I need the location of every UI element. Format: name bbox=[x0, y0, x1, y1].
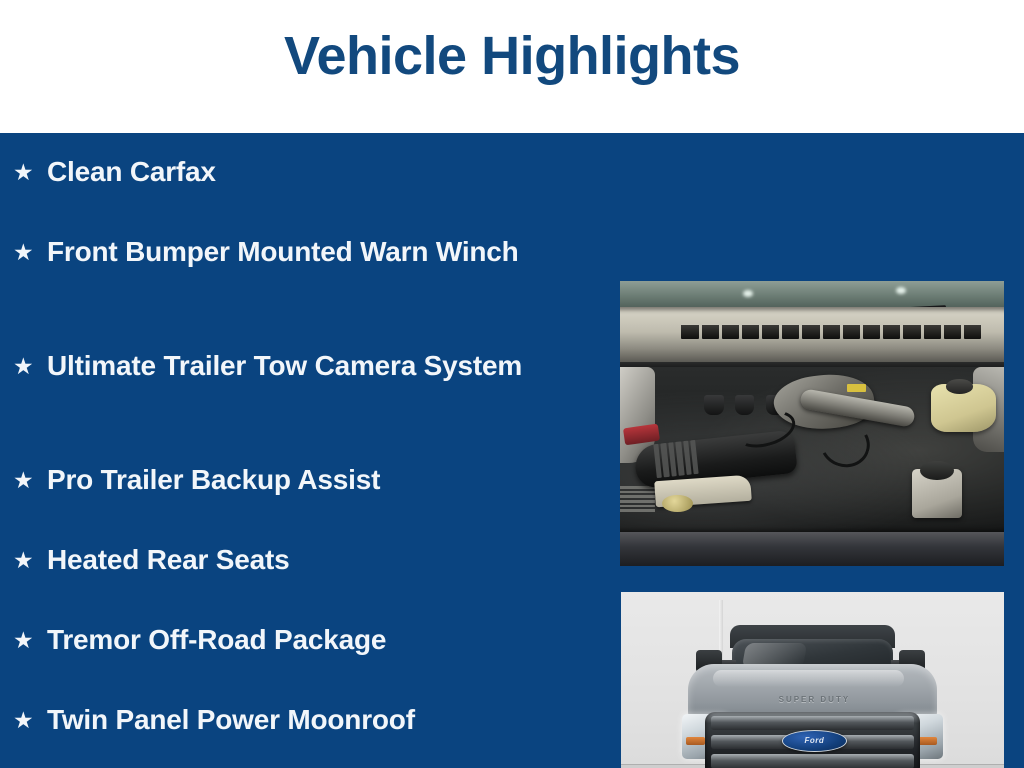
list-item: ★ Clean Carfax bbox=[13, 153, 533, 191]
star-icon: ★ bbox=[13, 153, 47, 191]
engine-bay-photo-canvas bbox=[620, 281, 1004, 566]
list-item-label: Twin Panel Power Moonroof bbox=[47, 701, 533, 739]
list-item-label: Front Bumper Mounted Warn Winch bbox=[47, 233, 533, 271]
vehicle-highlights-slide: Vehicle Highlights ★ Clean Carfax ★ Fron… bbox=[0, 0, 1024, 768]
star-icon: ★ bbox=[13, 461, 47, 499]
truck-front-photo: SUPER DUTY Ford Welcome to th bbox=[621, 592, 1004, 768]
list-item: ★ Heated Rear Seats bbox=[13, 541, 533, 579]
star-icon: ★ bbox=[13, 701, 47, 739]
list-item-label: Clean Carfax bbox=[47, 153, 533, 191]
glass-glint-icon bbox=[743, 290, 753, 297]
ignition-coil bbox=[735, 395, 754, 415]
list-item: ★ Tremor Off-Road Package bbox=[13, 621, 533, 659]
turn-signal-left bbox=[686, 737, 705, 745]
slide-body-panel: ★ Clean Carfax ★ Front Bumper Mounted Wa… bbox=[0, 133, 1024, 768]
oil-filler-cap bbox=[662, 495, 693, 512]
list-item-label: Ultimate Trailer Tow Camera System bbox=[47, 347, 533, 385]
star-icon: ★ bbox=[13, 347, 47, 385]
warning-tag bbox=[847, 384, 866, 393]
engine-bay-photo bbox=[620, 281, 1004, 566]
slide-header: Vehicle Highlights bbox=[0, 0, 1024, 133]
list-item-label: Heated Rear Seats bbox=[47, 541, 533, 579]
list-item: ★ Twin Panel Power Moonroof bbox=[13, 701, 533, 739]
list-item: ★ Pro Trailer Backup Assist bbox=[13, 461, 533, 499]
cowl-vent-strip bbox=[681, 324, 981, 339]
list-item: ★ Front Bumper Mounted Warn Winch bbox=[13, 233, 533, 271]
super-duty-lettering: SUPER DUTY bbox=[744, 695, 886, 706]
ford-oval-badge: Ford bbox=[782, 730, 847, 752]
highlights-list: ★ Clean Carfax ★ Front Bumper Mounted Wa… bbox=[0, 133, 560, 768]
ford-badge-text: Ford bbox=[805, 736, 825, 745]
intake-tube-ribs bbox=[653, 440, 699, 478]
reservoir-cap bbox=[946, 379, 973, 393]
list-item-label: Pro Trailer Backup Assist bbox=[47, 461, 533, 499]
ignition-coil bbox=[704, 395, 723, 415]
list-item: ★ Ultimate Trailer Tow Camera System bbox=[13, 347, 533, 385]
star-icon: ★ bbox=[13, 541, 47, 579]
turn-signal-right bbox=[918, 737, 937, 745]
star-icon: ★ bbox=[13, 233, 47, 271]
list-item-label: Tremor Off-Road Package bbox=[47, 621, 533, 659]
truck-front-photo-canvas: SUPER DUTY Ford Welcome to th bbox=[621, 592, 1004, 768]
star-icon: ★ bbox=[13, 621, 47, 659]
page-title: Vehicle Highlights bbox=[0, 26, 1024, 86]
glass-glint-icon bbox=[896, 287, 906, 294]
radiator-fins bbox=[620, 486, 655, 512]
hood-reflection bbox=[713, 670, 905, 687]
lower-radiator-support bbox=[620, 532, 1004, 566]
